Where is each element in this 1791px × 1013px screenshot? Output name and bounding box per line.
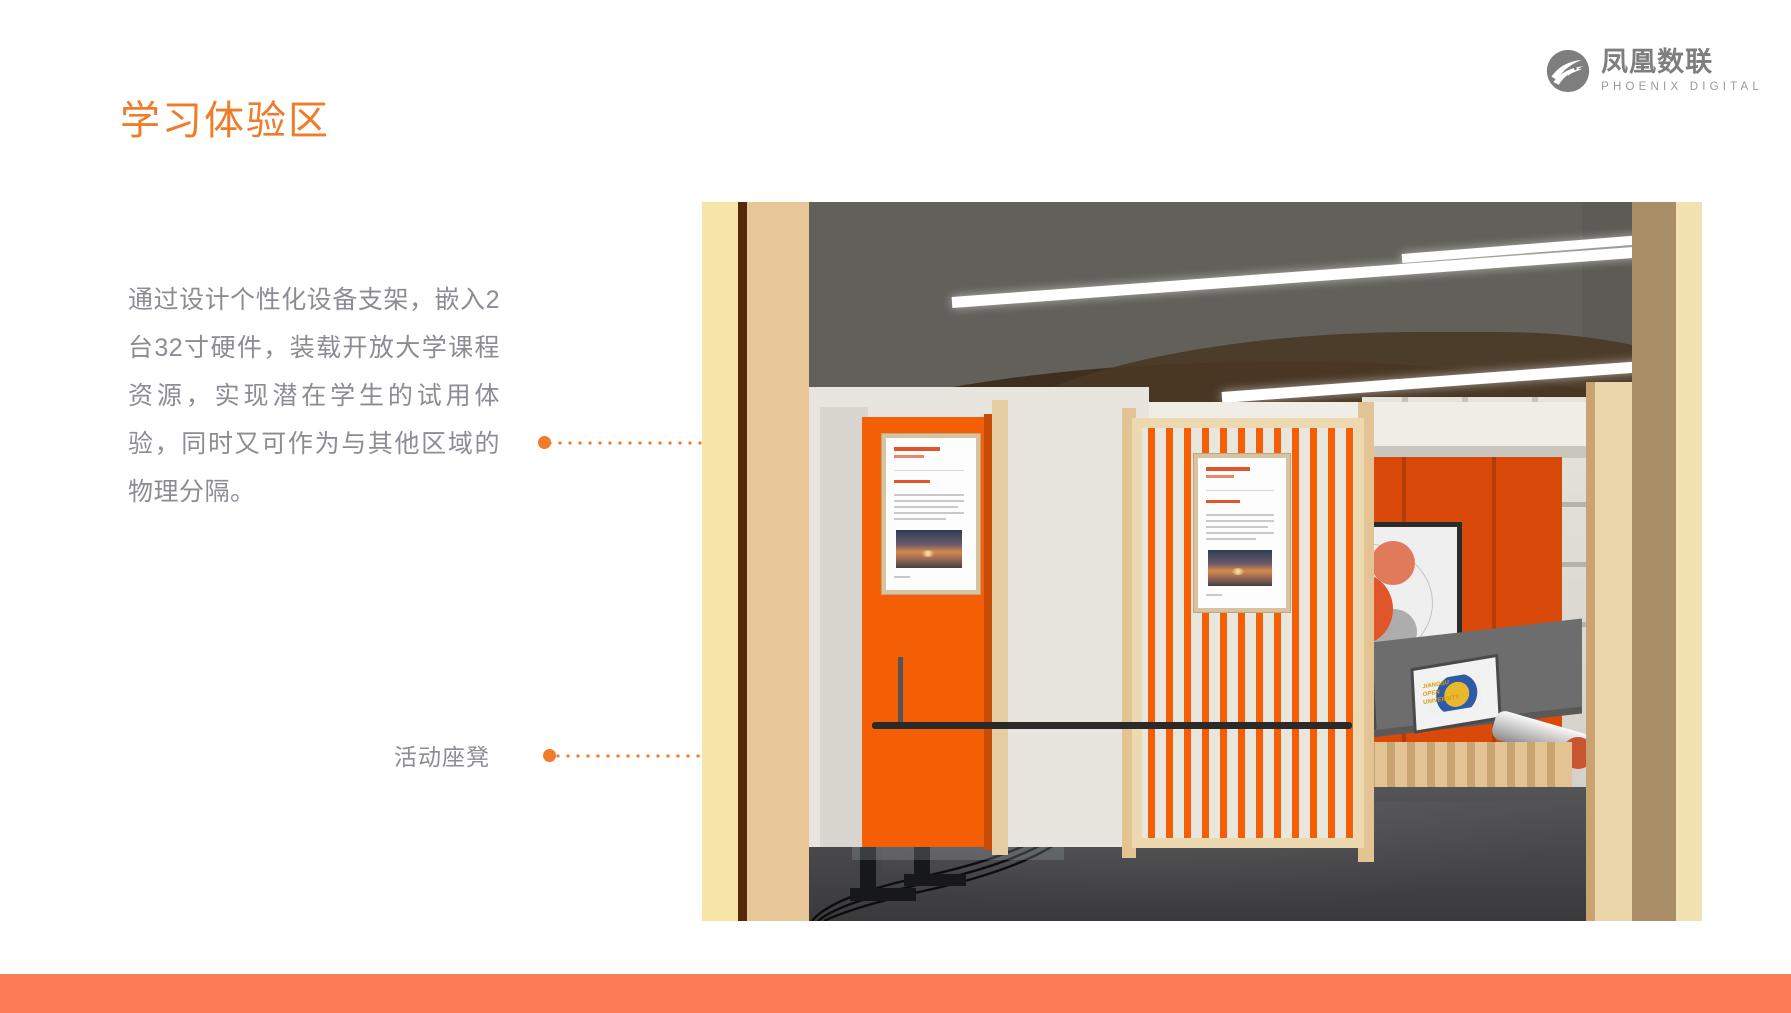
phoenix-circle-icon [1545,48,1591,94]
partition-post [992,400,1008,855]
screen-section-bar [1206,500,1240,503]
interior-render-image: 核心理念 平凡中蕴非凡 JIANGSU OPEN UNIVERSITY JIAN… [702,202,1702,921]
page-title: 学习体验区 [120,88,330,146]
vertical-display-screen [882,434,980,594]
guard-rail [872,722,1352,729]
screen-photo-sun [1232,568,1244,575]
right-jamb [1632,202,1676,921]
screen-divider [894,470,964,471]
callout-label-bench: 活动座凳 [394,738,490,772]
left-jamb-shadow [738,202,747,921]
logo-text: 凤凰数联 PHOENIX DIGITAL [1601,49,1763,94]
description-paragraph: 通过设计个性化设备支架，嵌入2台32寸硬件，装载开放大学课程资源，实现潜在学生的… [128,276,500,516]
brand-logo: 凤凰数联 PHOENIX DIGITAL [1545,48,1763,94]
right-pillar [1595,382,1633,921]
screen-heading-bar [894,447,940,451]
panel-frame [820,407,868,847]
screen-divider [1206,490,1274,491]
slide-canvas: 学习体验区 凤凰数联 PHOENIX DIGITAL 通过设计个性化设备支架，嵌… [0,0,1791,1013]
screen-subheading-bar [894,455,924,458]
left-jamb-trim [702,202,738,921]
vertical-display-screen [1194,454,1290,612]
logo-name-cn: 凤凰数联 [1601,49,1713,76]
screen-subheading-bar [1206,475,1234,478]
screen-photo-sun [922,550,934,557]
right-jamb-trim [1676,202,1702,921]
logo-name-en: PHOENIX DIGITAL [1601,82,1763,94]
screen-heading-bar [1206,467,1250,471]
screen-section-bar [894,480,930,483]
bottom-accent-bar [0,974,1791,1013]
left-jamb [747,202,809,921]
guard-rail-post [898,657,903,727]
screen-photo [896,530,962,568]
